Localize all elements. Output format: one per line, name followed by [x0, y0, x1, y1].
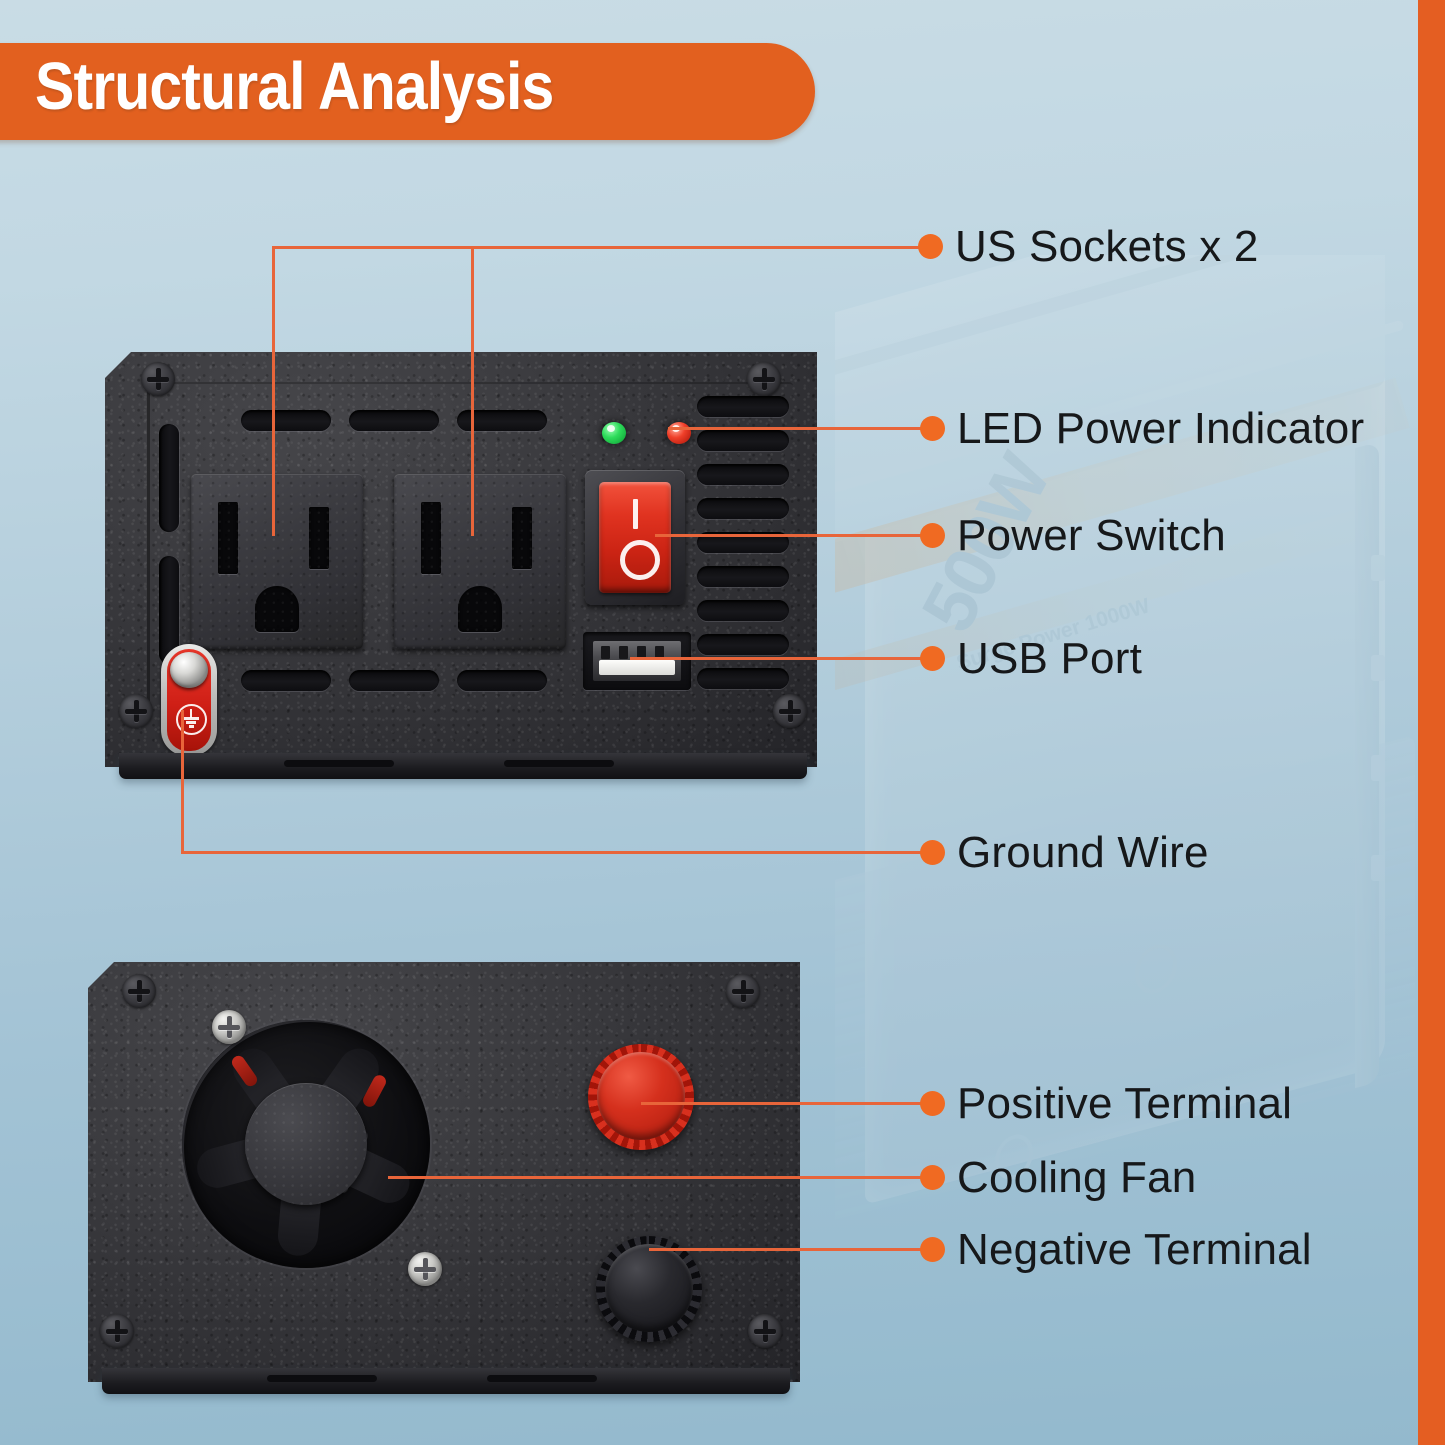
callout-dot-cooling-fan — [920, 1165, 945, 1190]
callout-label-us-sockets: US Sockets x 2 — [955, 222, 1259, 272]
callout-dot-ground-wire — [920, 840, 945, 865]
screw-bottom-left — [100, 1314, 134, 1348]
screw-top-right — [726, 974, 760, 1008]
vent-slot-right-1 — [697, 396, 789, 417]
callout-label-power-switch: Power Switch — [957, 511, 1226, 561]
vent-slot-right-3 — [697, 464, 789, 485]
leader-led-power-indicator — [668, 427, 930, 430]
front-case-base-lip — [119, 753, 807, 779]
callout-label-usb-port: USB Port — [957, 634, 1142, 684]
leader-ground-wire-drop — [181, 710, 184, 853]
screw-bottom-right — [748, 1314, 782, 1348]
leader-us-sockets-drop-1 — [272, 246, 275, 536]
inverter-front-panel — [105, 352, 817, 767]
us-socket-2[interactable] — [394, 474, 566, 649]
screw-bottom-left — [119, 694, 153, 728]
leader-negative-terminal — [649, 1248, 930, 1251]
red-power-led-icon — [667, 422, 691, 444]
usb-port[interactable] — [583, 632, 691, 690]
vent-slot-right-9 — [697, 668, 789, 689]
socket-slot-hot — [309, 507, 329, 569]
vent-slot-right-7 — [697, 600, 789, 621]
vent-slot-right-2 — [697, 430, 789, 451]
ground-lug-nut — [170, 652, 208, 688]
callout-dot-led-power-indicator — [920, 416, 945, 441]
callout-dot-positive-terminal — [920, 1091, 945, 1116]
callout-label-negative-terminal: Negative Terminal — [957, 1225, 1312, 1275]
vent-slot-top-2 — [349, 410, 439, 431]
socket-slot-neutral — [421, 502, 441, 574]
power-switch-bezel — [585, 470, 685, 605]
vent-slot-right-8 — [697, 634, 789, 655]
socket-ground-hole — [458, 586, 502, 632]
leader-power-switch — [655, 534, 930, 537]
usb-contact-2 — [619, 646, 628, 659]
usb-shell — [593, 641, 681, 681]
socket-slot-hot — [512, 507, 532, 569]
socket-ground-hole — [255, 586, 299, 632]
inverter-rear-panel — [88, 962, 800, 1382]
cooling-fan — [182, 1020, 430, 1268]
fan-guard-ring — [182, 1020, 430, 1268]
usb-tongue — [599, 660, 675, 675]
callout-label-ground-wire: Ground Wire — [957, 828, 1209, 878]
vent-slot-bottom-3 — [457, 670, 547, 691]
leader-us-sockets-horizontal — [272, 246, 928, 249]
socket-slot-neutral — [218, 502, 238, 574]
page-title: Structural Analysis — [35, 48, 553, 125]
vent-slot-bottom-1 — [241, 670, 331, 691]
screw-top-left — [122, 974, 156, 1008]
leader-cooling-fan — [388, 1176, 930, 1179]
screw-bottom-right — [773, 694, 807, 728]
usb-contact-1 — [601, 646, 610, 659]
callout-dot-usb-port — [920, 646, 945, 671]
rear-case-base-lip — [102, 1368, 790, 1394]
positive-terminal[interactable] — [588, 1044, 694, 1150]
fan-mount-screw-top-left — [212, 1010, 246, 1044]
callout-label-led-power-indicator: LED Power Indicator — [957, 404, 1364, 454]
screw-top-left — [141, 362, 175, 396]
vent-slot-top-1 — [241, 410, 331, 431]
fan-mount-screw-bottom-right — [408, 1252, 442, 1286]
callout-dot-negative-terminal — [920, 1237, 945, 1262]
power-switch-rocker[interactable] — [599, 482, 671, 593]
switch-on-symbol-icon — [633, 499, 638, 529]
vent-slot-left-1 — [159, 424, 179, 532]
leader-ground-wire-horizontal — [181, 851, 930, 854]
callout-label-cooling-fan: Cooling Fan — [957, 1153, 1196, 1203]
vent-slot-right-6 — [697, 566, 789, 587]
us-socket-1[interactable] — [191, 474, 363, 649]
leader-us-sockets-drop-2 — [471, 246, 474, 536]
right-edge-accent-stripe — [1418, 0, 1445, 1445]
screw-top-right — [747, 362, 781, 396]
callout-dot-us-sockets — [918, 234, 943, 259]
callout-dot-power-switch — [920, 523, 945, 548]
switch-off-symbol-icon — [620, 540, 660, 580]
vent-slot-right-4 — [697, 498, 789, 519]
ground-wire-lug[interactable] — [161, 644, 217, 756]
negative-terminal[interactable] — [596, 1236, 702, 1342]
leader-usb-port — [630, 657, 930, 660]
leader-positive-terminal — [641, 1102, 930, 1105]
green-power-led-icon — [602, 422, 626, 444]
callout-label-positive-terminal: Positive Terminal — [957, 1079, 1292, 1129]
vent-slot-bottom-2 — [349, 670, 439, 691]
